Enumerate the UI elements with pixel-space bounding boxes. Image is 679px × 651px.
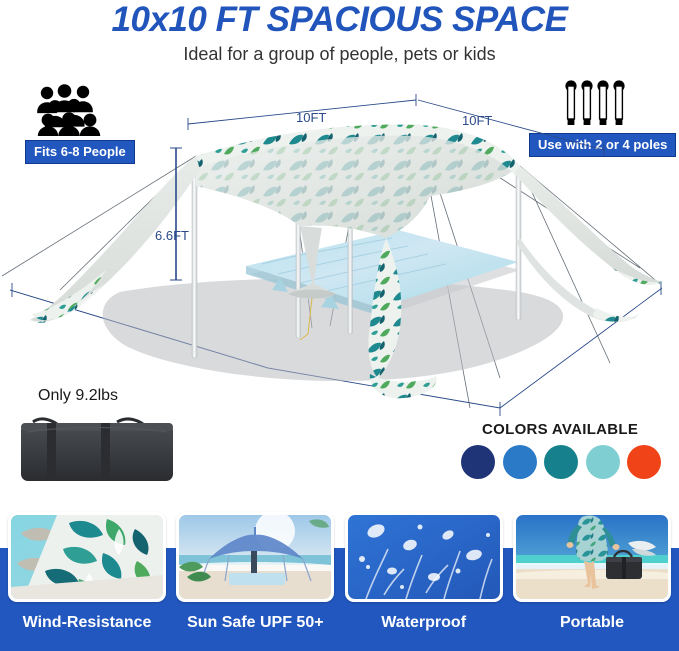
feature-card [176,512,334,602]
woman-carrying-bag-beach-art [516,515,668,599]
feature-label: Portable [560,614,624,632]
tropical-canopy-fabric-art [11,515,163,599]
water-droplets-art [348,515,500,599]
feature-wind-resistance: Wind-Resistance [8,512,166,651]
feature-list: Wind-Resistance [0,512,679,651]
color-swatch-list [461,443,661,481]
feature-card [345,512,503,602]
color-swatch-navy[interactable] [461,445,495,479]
infographic-root: 10x10 FT SPACIOUS SPACE Ideal for a grou… [0,0,679,651]
page-title: 10x10 FT SPACIOUS SPACE [0,0,679,40]
feature-label: Sun Safe UPF 50+ [187,614,324,632]
feature-card [513,512,671,602]
feature-card [8,512,166,602]
color-swatch-orange-red[interactable] [627,445,661,479]
canopy-illustration [0,78,679,438]
duffel-bag-icon [17,410,177,485]
colors-available-title: COLORS AVAILABLE [482,421,638,438]
page-subtitle: Ideal for a group of people, pets or kid… [0,42,679,66]
dimension-width-label: 10FT [296,110,326,125]
dimension-height-label: 6.6FT [155,228,189,243]
feature-label: Wind-Resistance [23,614,152,632]
dimension-depth-label: 10FT [462,113,492,128]
feature-waterproof: Waterproof [345,512,503,651]
beach-canopy-scene-art [179,515,331,599]
color-swatch-teal[interactable] [544,445,578,479]
bag-weight-label: Only 9.2lbs [38,387,118,405]
feature-portable: Portable [513,512,671,651]
color-swatch-blue[interactable] [503,445,537,479]
color-swatch-light-turquoise[interactable] [586,445,620,479]
feature-label: Waterproof [381,614,466,632]
feature-sun-safe: Sun Safe UPF 50+ [176,512,334,651]
